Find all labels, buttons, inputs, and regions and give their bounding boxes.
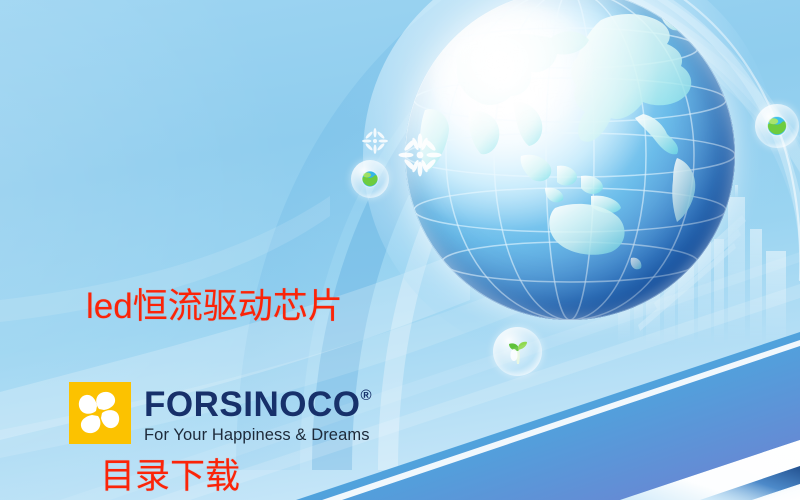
daisy-starburst-icon xyxy=(362,128,388,154)
headline-line-1: led恒流驱动芯片 xyxy=(86,279,506,336)
four-petal-pinwheel-icon xyxy=(69,382,131,444)
brand-name: FORSINOCO xyxy=(144,387,360,422)
headline-line-2: 目录下载 xyxy=(100,449,506,500)
headline: led恒流驱动芯片 目录下载 xyxy=(86,166,506,500)
bubble-globe-icon xyxy=(755,104,799,148)
mini-globe-icon xyxy=(765,114,789,138)
registered-trademark-icon: ® xyxy=(360,388,372,403)
brand-name-row: FORSINOCO ® xyxy=(144,387,372,422)
brand-tagline: For Your Happiness & Dreams xyxy=(144,427,372,444)
banner-slide: led恒流驱动芯片 目录下载 FORSINOCO ® For Your Happ… xyxy=(0,0,800,500)
brand-logo: FORSINOCO ® For Your Happiness & Dreams xyxy=(69,382,372,444)
brand-text: FORSINOCO ® For Your Happiness & Dreams xyxy=(144,387,372,444)
